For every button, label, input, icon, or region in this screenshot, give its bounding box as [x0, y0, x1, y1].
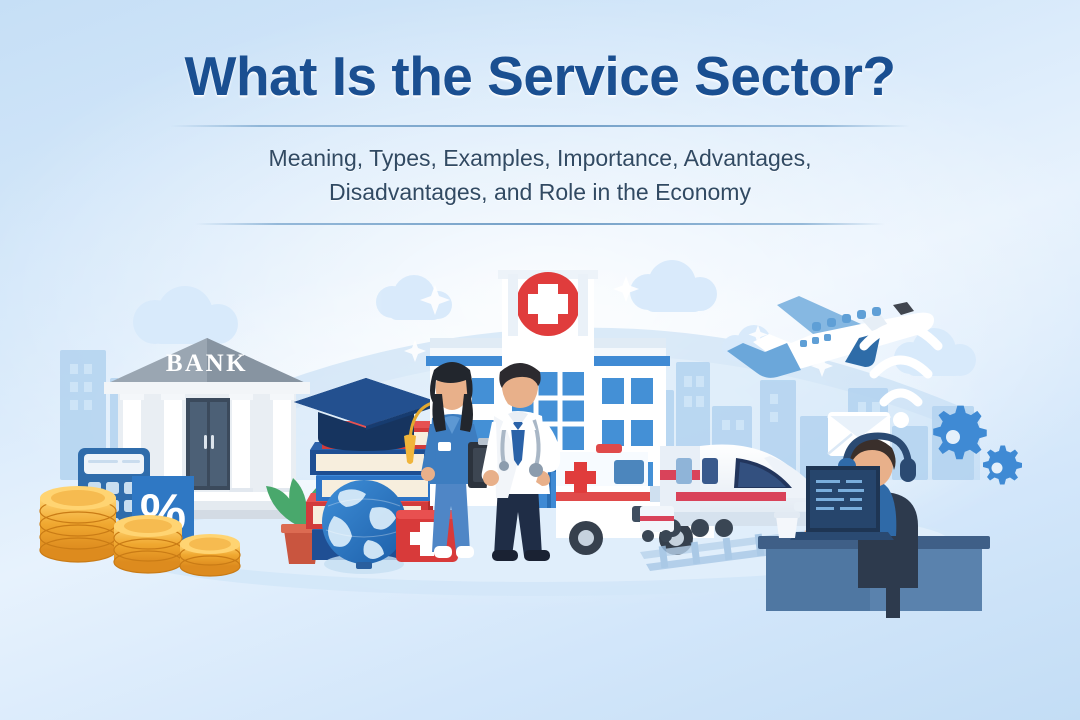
bank-sign-text: BANK: [166, 350, 248, 377]
red-cross-sign: [516, 272, 580, 336]
coin-stack-short: [180, 534, 240, 576]
subtitle-line-2: Disadvantages, and Role in the Economy: [0, 175, 1080, 209]
globe: [322, 480, 406, 574]
wifi-dot: [893, 412, 909, 428]
page-subtitle: Meaning, Types, Examples, Importance, Ad…: [0, 127, 1080, 209]
page-title: What Is the Service Sector?: [0, 0, 1080, 108]
divider-bottom: [195, 223, 885, 225]
coin-stack-mid: [114, 515, 182, 573]
coin-stack-tall: [40, 486, 116, 562]
infographic-poster: What Is the Service Sector? Meaning, Typ…: [0, 0, 1080, 720]
service-sector-illustration: BANK: [0, 230, 1080, 630]
poster-header: What Is the Service Sector? Meaning, Typ…: [0, 0, 1080, 225]
subtitle-line-1: Meaning, Types, Examples, Importance, Ad…: [269, 145, 812, 171]
